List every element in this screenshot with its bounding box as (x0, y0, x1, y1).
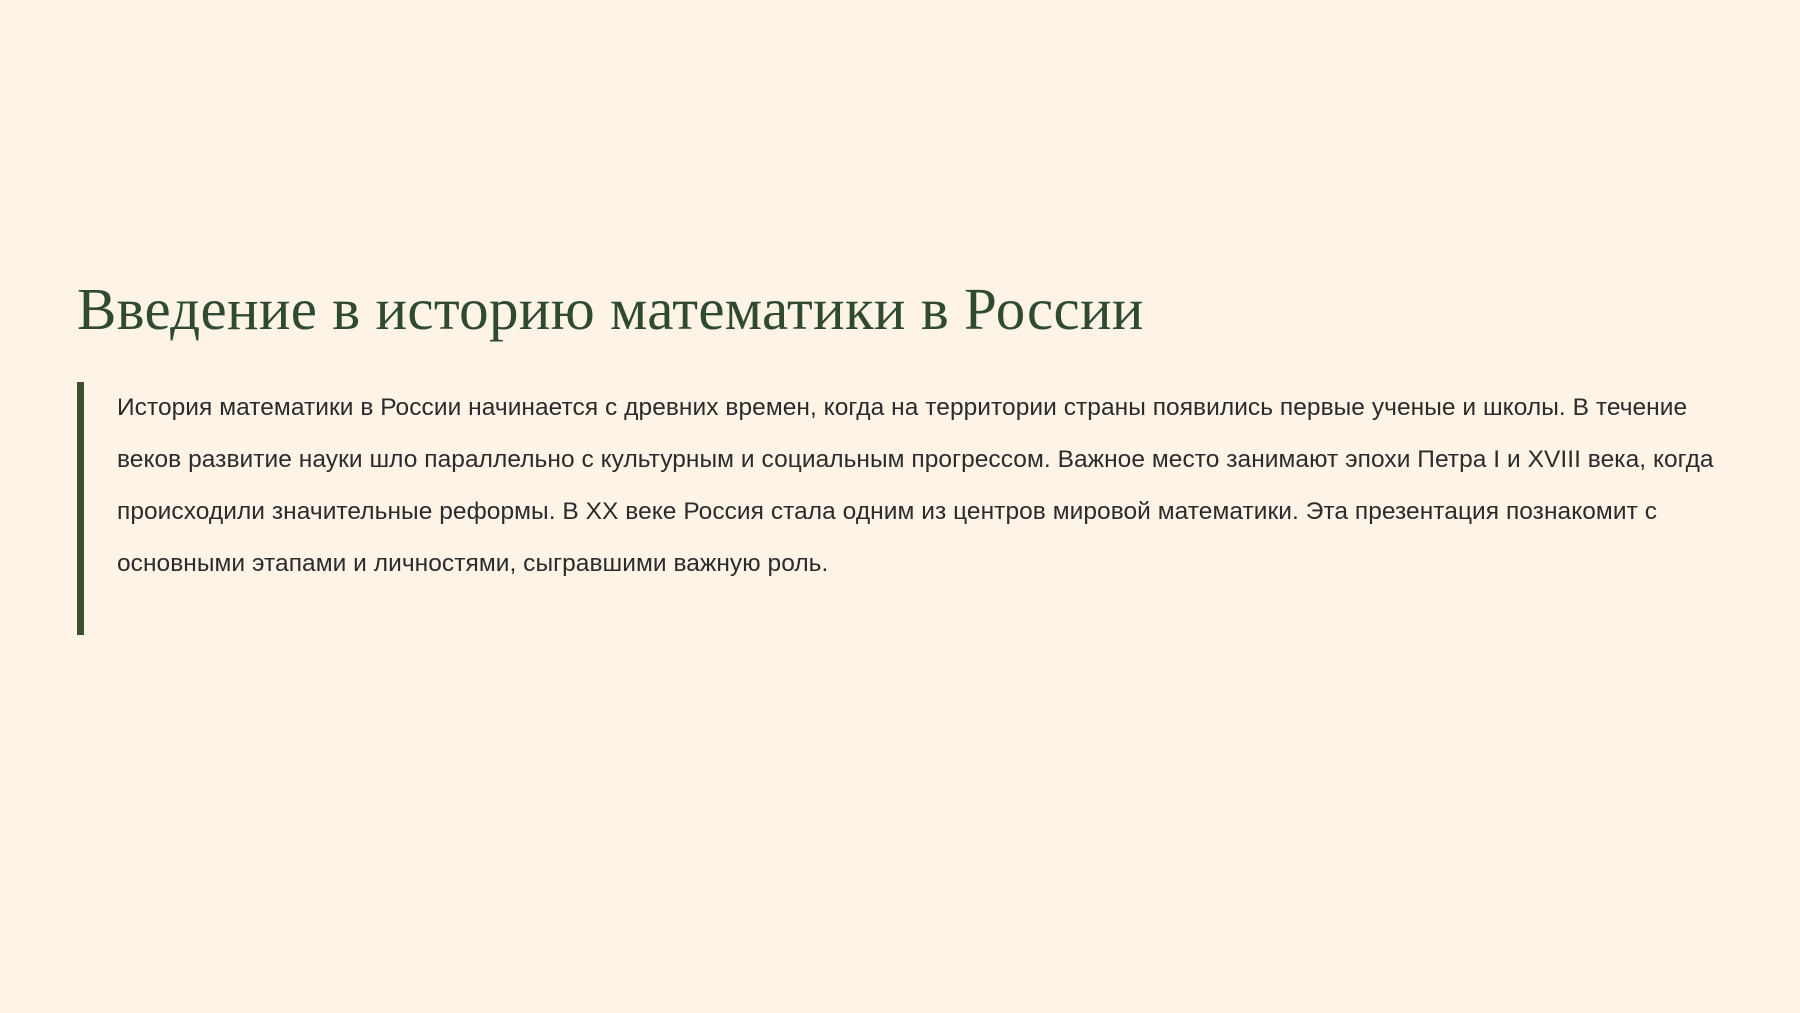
body-callout-block: История математики в России начинается с… (77, 382, 1747, 635)
accent-bar (77, 382, 84, 635)
presentation-slide: Введение в историю математики в России И… (0, 0, 1800, 1013)
slide-content: Введение в историю математики в России И… (77, 276, 1747, 635)
body-paragraph: История математики в России начинается с… (117, 382, 1747, 590)
page-title: Введение в историю математики в России (77, 276, 1747, 342)
